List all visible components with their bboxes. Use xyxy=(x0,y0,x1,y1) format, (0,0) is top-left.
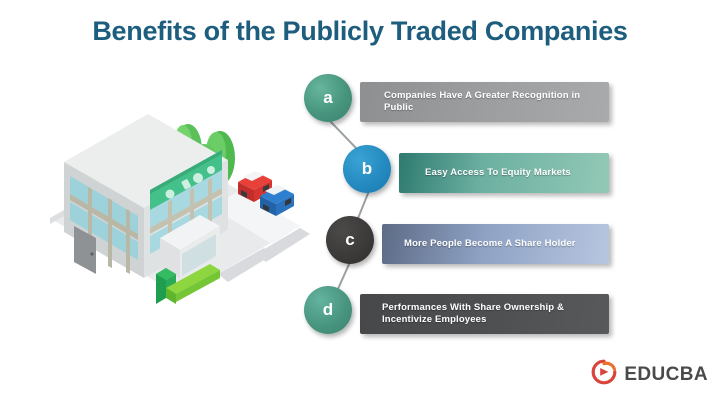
benefit-bar-b[interactable]: Easy Access To Equity Markets xyxy=(399,153,609,193)
benefit-item-d[interactable]: Performances With Share Ownership & Ince… xyxy=(304,286,612,342)
benefit-bar-d[interactable]: Performances With Share Ownership & Ince… xyxy=(360,294,609,334)
benefit-badge-c[interactable]: c xyxy=(326,216,374,264)
office-building xyxy=(64,114,228,278)
educba-logo[interactable]: EDUCBA xyxy=(591,359,708,390)
educba-swirl-icon xyxy=(591,359,617,390)
benefit-item-a[interactable]: Companies Have A Greater Recognition in … xyxy=(304,74,612,130)
benefit-badge-a[interactable]: a xyxy=(304,74,352,122)
benefit-text-a: Companies Have A Greater Recognition in … xyxy=(360,90,609,115)
benefit-item-c[interactable]: More People Become A Share Holder c xyxy=(326,216,612,272)
benefit-text-d: Performances With Share Ownership & Ince… xyxy=(360,302,609,327)
benefit-item-b[interactable]: Easy Access To Equity Markets b xyxy=(343,145,612,201)
benefit-bar-c[interactable]: More People Become A Share Holder xyxy=(382,224,609,264)
benefit-bar-a[interactable]: Companies Have A Greater Recognition in … xyxy=(360,82,609,122)
building-svg xyxy=(42,78,310,308)
benefit-badge-b[interactable]: b xyxy=(343,145,391,193)
benefit-text-c: More People Become A Share Holder xyxy=(382,238,576,251)
benefit-text-b: Easy Access To Equity Markets xyxy=(399,167,571,180)
educba-logo-text: EDUCBA xyxy=(624,364,708,386)
benefit-badge-d[interactable]: d xyxy=(304,286,352,334)
benefits-list: Companies Have A Greater Recognition in … xyxy=(296,64,612,348)
isometric-office-building-illustration xyxy=(42,78,310,308)
page-title: Benefits of the Publicly Traded Companie… xyxy=(0,16,720,47)
